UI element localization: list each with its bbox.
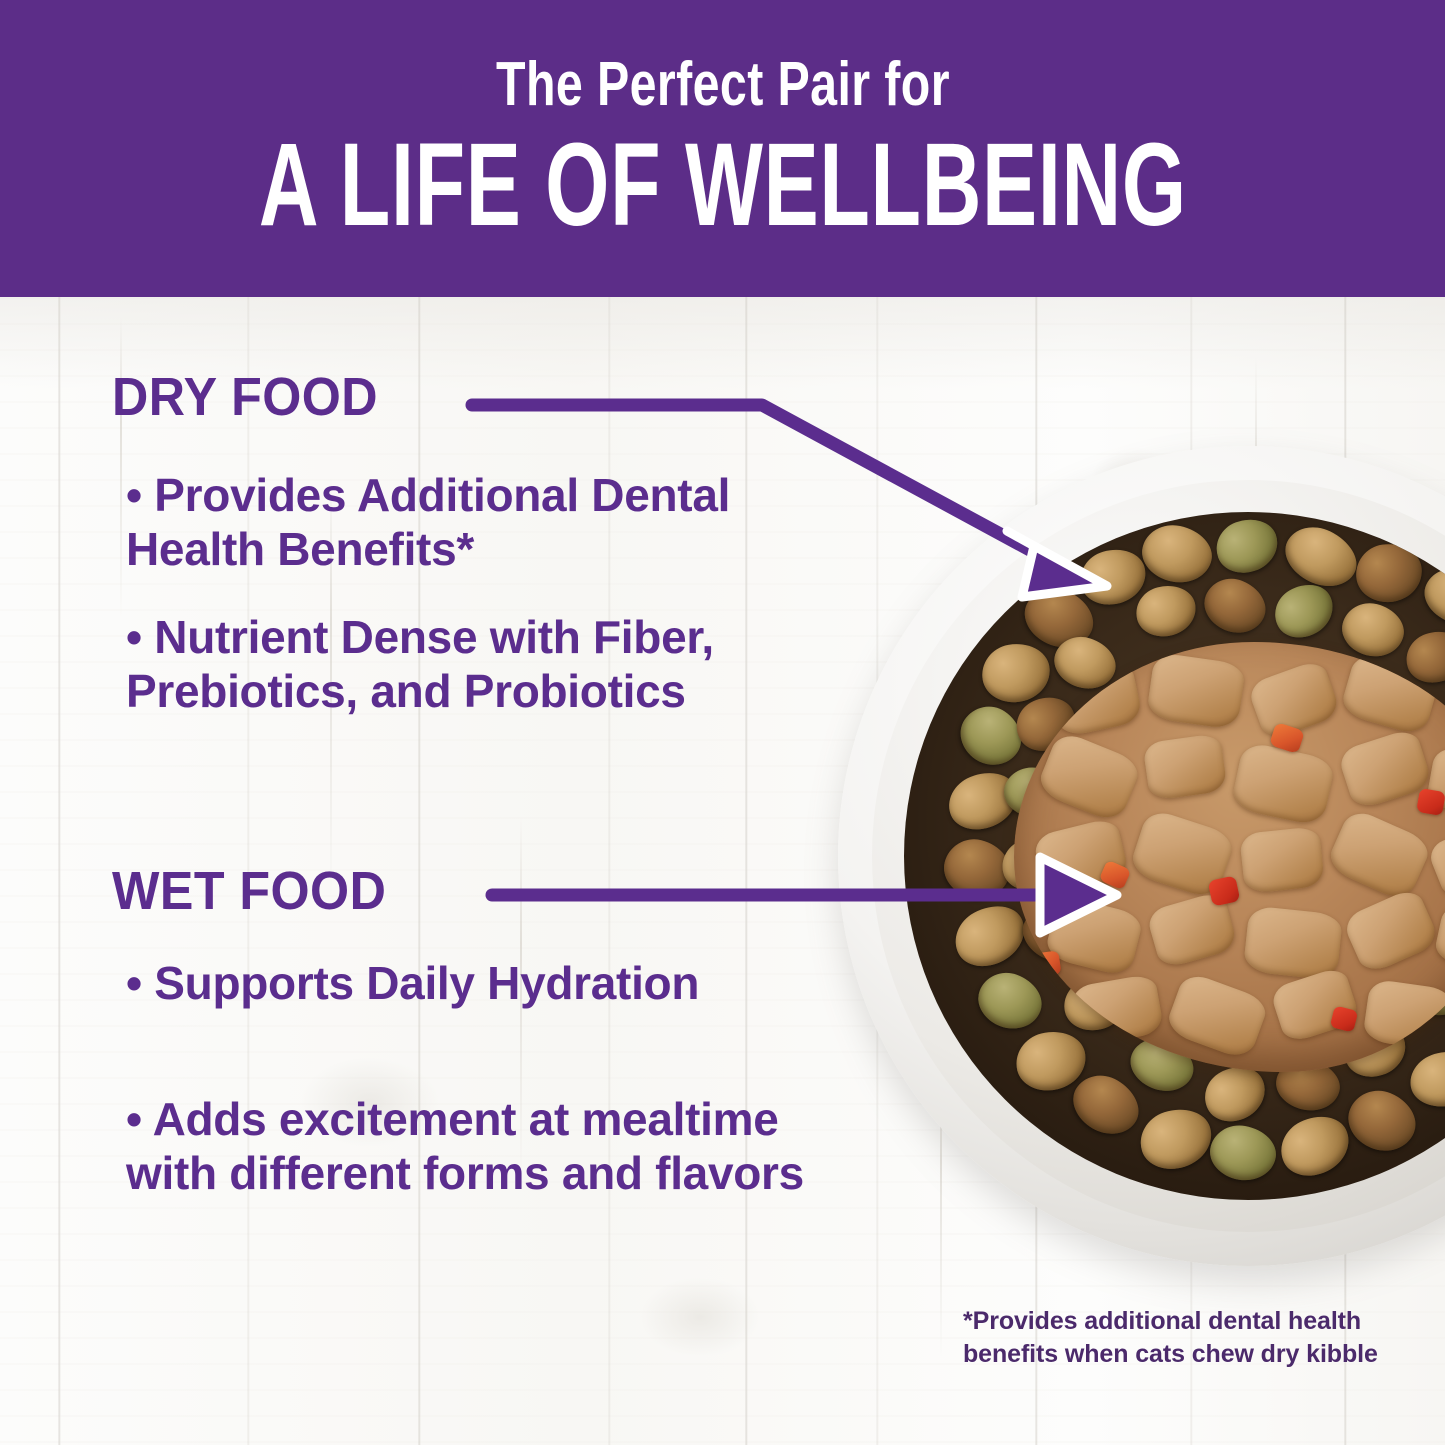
header-subtitle: The Perfect Pair for xyxy=(496,54,950,116)
wet-food-bullet-1: • Supports Daily Hydration xyxy=(126,956,816,1010)
header-title: A LIFE OF WELLBEING xyxy=(259,126,1187,244)
pet-food-bowl-image xyxy=(838,446,1445,1291)
poster-root: The Perfect Pair for A LIFE OF WELLBEING xyxy=(0,0,1445,1445)
wet-food-bullet-2: • Adds excitement at mealtime with diffe… xyxy=(126,1092,816,1201)
dry-food-bullet-2: • Nutrient Dense with Fiber, Prebiotics,… xyxy=(126,610,816,719)
header-banner: The Perfect Pair for A LIFE OF WELLBEING xyxy=(0,0,1445,297)
wet-food-gravy xyxy=(1014,642,1445,1072)
footnote-text: *Provides additional dental health benef… xyxy=(963,1305,1383,1370)
wet-food-heading: WET FOOD xyxy=(112,864,386,918)
dry-food-heading: DRY FOOD xyxy=(112,370,378,424)
dry-food-bullet-1: • Provides Additional Dental Health Bene… xyxy=(126,468,816,577)
